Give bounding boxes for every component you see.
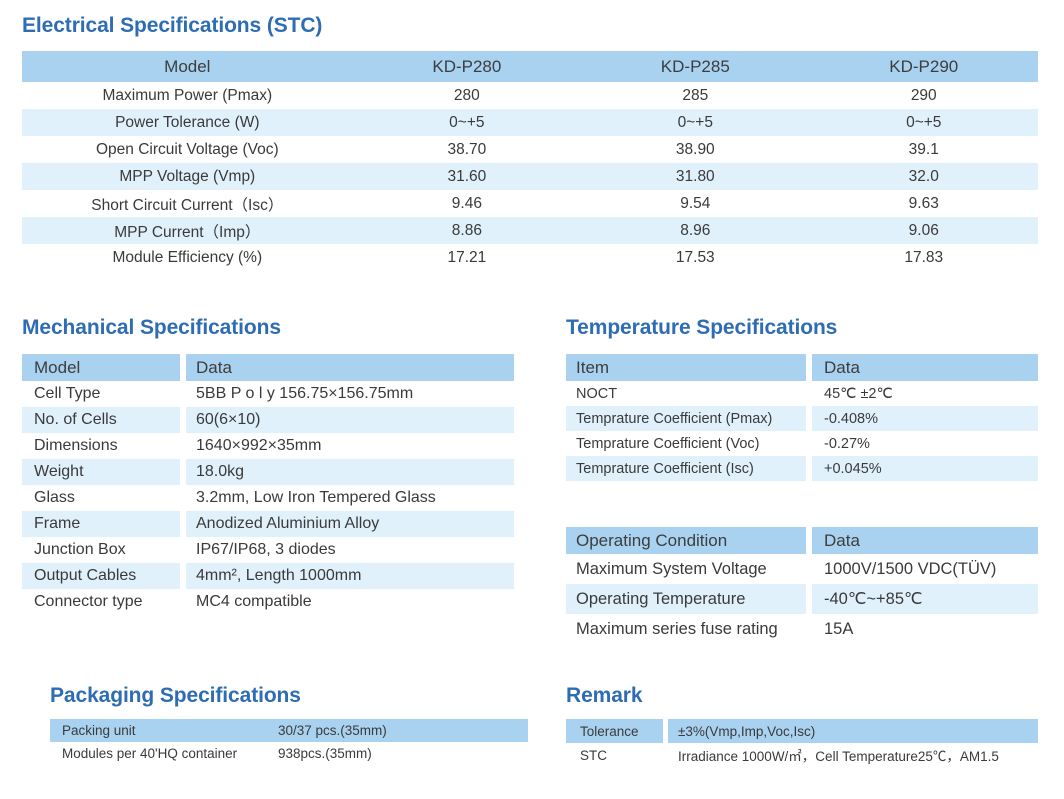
row-value: Irradiance 1000W/㎡，Cell Temperature25℃，A… bbox=[668, 743, 1038, 767]
row-label: Maximum Power (Pmax) bbox=[22, 82, 353, 109]
row-value: 60(6×10) bbox=[186, 407, 514, 433]
temperature-specifications-table: Item Data NOCT 45℃ ±2℃ Temprature Coeffi… bbox=[566, 354, 1038, 481]
row-label: Open Circuit Voltage (Voc) bbox=[22, 136, 353, 163]
row-label: Junction Box bbox=[22, 537, 180, 563]
row-label: Weight bbox=[22, 459, 180, 485]
row-value: 280 bbox=[353, 82, 581, 109]
row-value: -0.408% bbox=[812, 406, 1038, 431]
table-row: Maximum series fuse rating 15A bbox=[566, 614, 1038, 644]
row-label: NOCT bbox=[566, 381, 806, 406]
column-header-model: Model bbox=[22, 354, 180, 381]
remark-table: Tolerance ±3%(Vmp,Imp,Voc,Isc) STC Irrad… bbox=[566, 719, 1038, 767]
row-label: Dimensions bbox=[22, 433, 180, 459]
row-label: Tolerance bbox=[566, 719, 663, 743]
row-value: 18.0kg bbox=[186, 459, 514, 485]
table-row: Maximum System Voltage 1000V/1500 VDC(TÜ… bbox=[566, 554, 1038, 584]
remark-section: Remark Tolerance ±3%(Vmp,Imp,Voc,Isc) ST… bbox=[566, 684, 1038, 767]
table-header-row: Item Data bbox=[566, 354, 1038, 381]
electrical-section-title: Electrical Specifications (STC) bbox=[22, 14, 1038, 38]
row-value: 38.70 bbox=[353, 136, 581, 163]
column-header-kd-p290: KD-P290 bbox=[810, 51, 1038, 82]
row-label: Temprature Coefficient (Pmax) bbox=[566, 406, 806, 431]
row-value: Anodized Aluminium Alloy bbox=[186, 511, 514, 537]
table-row: Temprature Coefficient (Voc) -0.27% bbox=[566, 431, 1038, 456]
table-row: Module Efficiency (%) 17.21 17.53 17.83 bbox=[22, 244, 1038, 271]
table-row: Dimensions 1640×992×35mm bbox=[22, 433, 514, 459]
row-label: Operating Temperature bbox=[566, 584, 806, 614]
table-row: Junction Box IP67/IP68, 3 diodes bbox=[22, 537, 514, 563]
operating-condition-table: Operating Condition Data Maximum System … bbox=[566, 527, 1038, 644]
temperature-section-title: Temperature Specifications bbox=[566, 316, 1038, 340]
electrical-specifications-table: Model KD-P280 KD-P285 KD-P290 Maximum Po… bbox=[22, 51, 1038, 271]
table-header-row: Model Data bbox=[22, 354, 514, 381]
temperature-specifications-section: Temperature Specifications Item Data NOC… bbox=[566, 316, 1038, 481]
table-row: Frame Anodized Aluminium Alloy bbox=[22, 511, 514, 537]
packaging-specifications-section: Packaging Specifications Packing unit 30… bbox=[50, 684, 528, 765]
row-label: No. of Cells bbox=[22, 407, 180, 433]
row-label: MPP Voltage (Vmp) bbox=[22, 163, 353, 190]
row-value: 5BB P o l y 156.75×156.75mm bbox=[186, 381, 514, 407]
table-row: Maximum Power (Pmax) 280 285 290 bbox=[22, 82, 1038, 109]
row-value: 8.86 bbox=[353, 217, 581, 244]
row-value: 15A bbox=[812, 614, 1038, 644]
packaging-specifications-table: Packing unit 30/37 pcs.(35mm) Modules pe… bbox=[50, 719, 528, 765]
table-row: Packing unit 30/37 pcs.(35mm) bbox=[50, 719, 528, 742]
row-label: Short Circuit Current（Isc） bbox=[22, 190, 353, 217]
mechanical-specifications-table: Model Data Cell Type 5BB P o l y 156.75×… bbox=[22, 354, 514, 615]
remark-section-title: Remark bbox=[566, 684, 1038, 708]
table-row: Open Circuit Voltage (Voc) 38.70 38.90 3… bbox=[22, 136, 1038, 163]
row-label: Maximum System Voltage bbox=[566, 554, 806, 584]
row-value: 8.96 bbox=[581, 217, 809, 244]
row-label: Module Efficiency (%) bbox=[22, 244, 353, 271]
row-value: 38.90 bbox=[581, 136, 809, 163]
row-value: 17.21 bbox=[353, 244, 581, 271]
row-value: 31.80 bbox=[581, 163, 809, 190]
column-header-operating-condition: Operating Condition bbox=[566, 527, 806, 554]
column-header-item: Item bbox=[566, 354, 806, 381]
table-row: STC Irradiance 1000W/㎡，Cell Temperature2… bbox=[566, 743, 1038, 767]
row-value: 0~+5 bbox=[353, 109, 581, 136]
row-value: 0~+5 bbox=[810, 109, 1038, 136]
row-label: STC bbox=[566, 743, 663, 767]
table-header-row: Operating Condition Data bbox=[566, 527, 1038, 554]
row-value: 30/37 pcs.(35mm) bbox=[268, 719, 528, 742]
column-header-data: Data bbox=[186, 354, 514, 381]
row-value: 1640×992×35mm bbox=[186, 433, 514, 459]
table-row: NOCT 45℃ ±2℃ bbox=[566, 381, 1038, 406]
row-value: 39.1 bbox=[810, 136, 1038, 163]
mechanical-section-title: Mechanical Specifications bbox=[22, 316, 514, 340]
row-label: Packing unit bbox=[50, 719, 268, 742]
row-value: 0~+5 bbox=[581, 109, 809, 136]
table-row: No. of Cells 60(6×10) bbox=[22, 407, 514, 433]
row-value: +0.045% bbox=[812, 456, 1038, 481]
column-header-data: Data bbox=[812, 527, 1038, 554]
column-header-kd-p280: KD-P280 bbox=[353, 51, 581, 82]
table-row: Glass 3.2mm, Low Iron Tempered Glass bbox=[22, 485, 514, 511]
row-label: MPP Current（Imp） bbox=[22, 217, 353, 244]
table-row: Output Cables 4mm², Length 1000mm bbox=[22, 563, 514, 589]
row-value: 31.60 bbox=[353, 163, 581, 190]
table-row: Operating Temperature -40℃~+85℃ bbox=[566, 584, 1038, 614]
table-row: Connector type MC4 compatible bbox=[22, 589, 514, 615]
packaging-section-title: Packaging Specifications bbox=[50, 684, 528, 708]
column-header-data: Data bbox=[812, 354, 1038, 381]
table-row: Temprature Coefficient (Isc) +0.045% bbox=[566, 456, 1038, 481]
row-value: 1000V/1500 VDC(TÜV) bbox=[812, 554, 1038, 584]
row-label: Frame bbox=[22, 511, 180, 537]
row-value: 938pcs.(35mm) bbox=[268, 742, 528, 765]
row-label: Power Tolerance (W) bbox=[22, 109, 353, 136]
row-value: 9.46 bbox=[353, 190, 581, 217]
table-row: Tolerance ±3%(Vmp,Imp,Voc,Isc) bbox=[566, 719, 1038, 743]
row-value: ±3%(Vmp,Imp,Voc,Isc) bbox=[668, 719, 1038, 743]
row-value: 17.53 bbox=[581, 244, 809, 271]
row-value: 9.54 bbox=[581, 190, 809, 217]
row-label: Output Cables bbox=[22, 563, 180, 589]
table-row: MPP Voltage (Vmp) 31.60 31.80 32.0 bbox=[22, 163, 1038, 190]
row-label: Temprature Coefficient (Voc) bbox=[566, 431, 806, 456]
row-value: 17.83 bbox=[810, 244, 1038, 271]
table-row: Short Circuit Current（Isc） 9.46 9.54 9.6… bbox=[22, 190, 1038, 217]
row-value: IP67/IP68, 3 diodes bbox=[186, 537, 514, 563]
row-label: Maximum series fuse rating bbox=[566, 614, 806, 644]
table-row: Power Tolerance (W) 0~+5 0~+5 0~+5 bbox=[22, 109, 1038, 136]
row-value: MC4 compatible bbox=[186, 589, 514, 615]
operating-condition-section: Operating Condition Data Maximum System … bbox=[566, 527, 1038, 644]
table-row: Modules per 40'HQ container 938pcs.(35mm… bbox=[50, 742, 528, 765]
row-label: Temprature Coefficient (Isc) bbox=[566, 456, 806, 481]
row-value: 9.63 bbox=[810, 190, 1038, 217]
row-value: -0.27% bbox=[812, 431, 1038, 456]
row-label: Connector type bbox=[22, 589, 180, 615]
row-label: Glass bbox=[22, 485, 180, 511]
table-header-row: Model KD-P280 KD-P285 KD-P290 bbox=[22, 51, 1038, 82]
row-label: Modules per 40'HQ container bbox=[50, 742, 268, 765]
row-value: -40℃~+85℃ bbox=[812, 584, 1038, 614]
table-row: Weight 18.0kg bbox=[22, 459, 514, 485]
table-row: MPP Current（Imp） 8.86 8.96 9.06 bbox=[22, 217, 1038, 244]
row-value: 3.2mm, Low Iron Tempered Glass bbox=[186, 485, 514, 511]
mechanical-specifications-section: Mechanical Specifications Model Data Cel… bbox=[22, 316, 514, 615]
electrical-specifications-section: Electrical Specifications (STC) Model KD… bbox=[22, 14, 1038, 271]
table-row: Cell Type 5BB P o l y 156.75×156.75mm bbox=[22, 381, 514, 407]
row-value: 45℃ ±2℃ bbox=[812, 381, 1038, 406]
table-row: Temprature Coefficient (Pmax) -0.408% bbox=[566, 406, 1038, 431]
column-header-model: Model bbox=[22, 51, 353, 82]
row-value: 290 bbox=[810, 82, 1038, 109]
column-header-kd-p285: KD-P285 bbox=[581, 51, 809, 82]
row-value: 32.0 bbox=[810, 163, 1038, 190]
row-value: 4mm², Length 1000mm bbox=[186, 563, 514, 589]
row-label: Cell Type bbox=[22, 381, 180, 407]
row-value: 9.06 bbox=[810, 217, 1038, 244]
row-value: 285 bbox=[581, 82, 809, 109]
